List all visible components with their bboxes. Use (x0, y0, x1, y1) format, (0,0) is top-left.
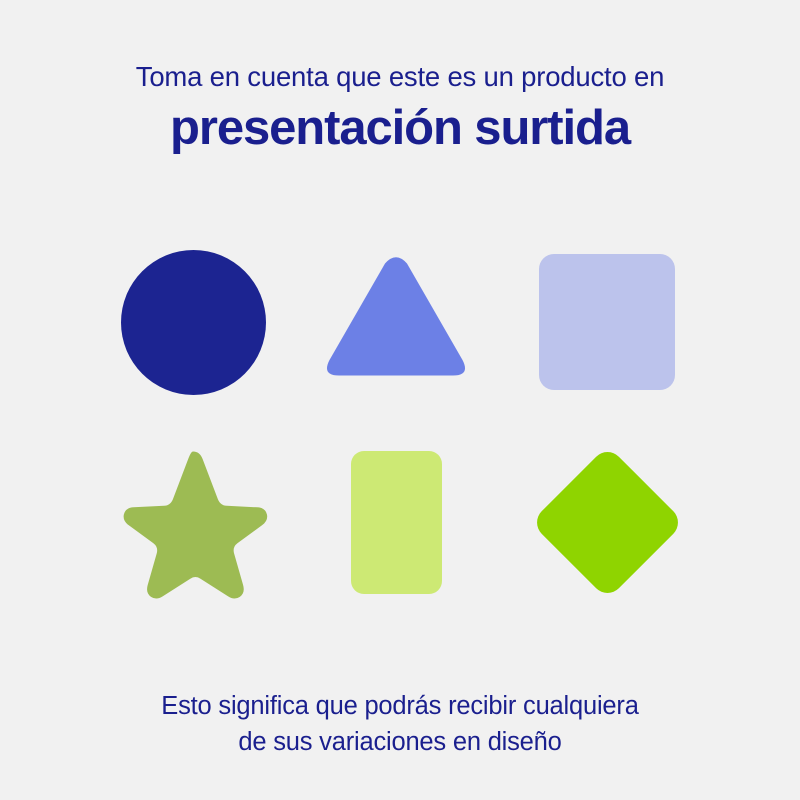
shape-cell-triangle (296, 232, 496, 412)
shape-cell-diamond (507, 432, 707, 612)
footer-line-2: de sus variaciones en diseño (0, 724, 800, 760)
headline-block: Toma en cuenta que este es un producto e… (0, 58, 800, 158)
shape-cell-rectangle (296, 432, 496, 612)
shape-cell-square (507, 232, 707, 412)
diamond-icon (530, 445, 684, 599)
star-icon (117, 447, 269, 597)
footer-line-1: Esto significa que podrás recibir cualqu… (0, 688, 800, 724)
rounded-square-icon (539, 254, 675, 390)
shapes-grid (0, 220, 800, 630)
rounded-rectangle-icon (351, 451, 442, 594)
shape-cell-circle (93, 232, 293, 412)
footer-block: Esto significa que podrás recibir cualqu… (0, 688, 800, 760)
triangle-icon (321, 254, 471, 390)
circle-icon (121, 250, 266, 395)
headline-line-2: presentación surtida (0, 98, 800, 158)
shape-cell-star (93, 432, 293, 612)
promo-poster: Toma en cuenta que este es un producto e… (0, 0, 800, 800)
headline-line-1: Toma en cuenta que este es un producto e… (0, 58, 800, 96)
